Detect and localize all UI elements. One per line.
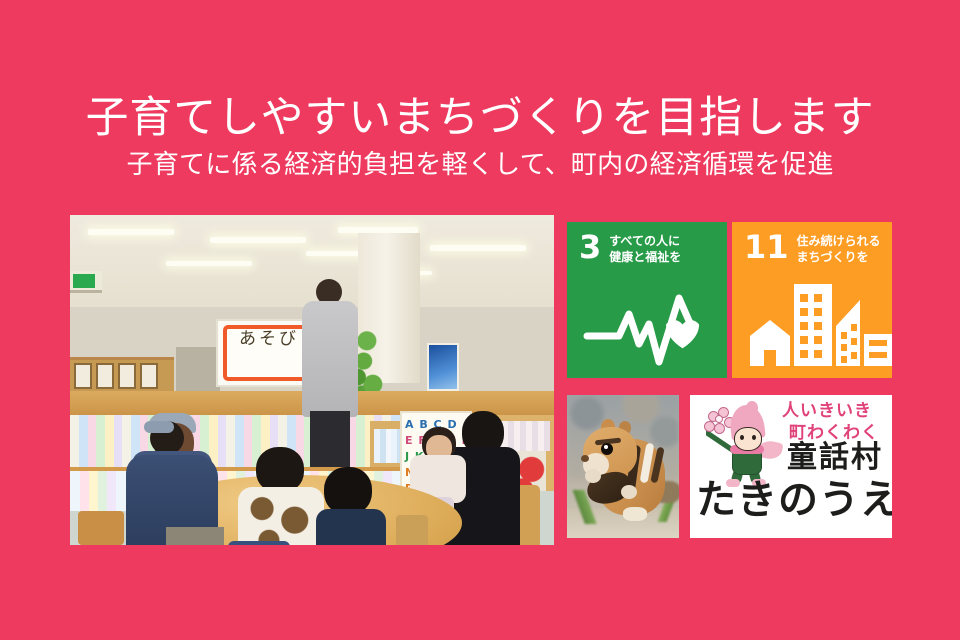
child-body — [238, 487, 324, 545]
sdg-11-label-line2: まちづくりを — [797, 250, 869, 264]
blue-poster — [427, 343, 459, 391]
child-pants — [228, 541, 290, 545]
picture-frame — [74, 363, 92, 389]
sdg-tile-11: 11 住み続けられる まちづくりを — [732, 222, 892, 378]
ceiling-light — [430, 245, 526, 251]
city-buildings-icon — [732, 278, 892, 370]
mascot-illustration — [700, 401, 776, 479]
sdg-3-number: 3 — [579, 232, 601, 262]
chipmunk-paw — [585, 469, 601, 483]
child-head — [324, 467, 372, 515]
adult-cap-brim — [144, 421, 174, 433]
chipmunk-photo — [567, 395, 679, 538]
picture-frame — [118, 363, 136, 389]
logo-town-name: たきのうえ — [696, 475, 888, 525]
seated-adult-legs — [166, 527, 224, 545]
headline-block: 子育てしやすいまちづくりを目指します 子育てに係る経済的負担を軽くして、町内の経… — [0, 92, 960, 182]
chair — [78, 511, 124, 545]
sdg-tile-3: 3 すべての人に 健康と福祉を — [567, 222, 727, 378]
picture-frame — [140, 363, 158, 389]
sdg-11-header: 11 住み続けられる まちづくりを — [744, 232, 881, 265]
banner-root: 子育てしやすいまちづくりを目指します 子育てに係る経済的負担を軽くして、町内の経… — [0, 0, 960, 640]
flower-petal — [704, 421, 715, 432]
logo-tagline-line1: 人いきいき — [766, 401, 888, 422]
chair — [396, 515, 428, 545]
flower-center — [715, 415, 723, 423]
chipmunk-eye-highlight — [604, 445, 608, 449]
service-counter — [176, 347, 220, 391]
chipmunk-nose — [581, 455, 589, 462]
sdg-3-label: すべての人に 健康と福祉を — [609, 233, 681, 265]
flower-petal — [714, 423, 725, 434]
sdg-3-label-line2: 健康と福祉を — [609, 250, 681, 264]
ceiling-light — [88, 229, 174, 235]
chipmunk-foot — [623, 507, 647, 521]
sdg-11-number: 11 — [744, 232, 789, 262]
ceiling-light — [166, 261, 252, 266]
picture-frame — [96, 363, 114, 389]
town-logo: 人いきいき 町わくわく 童話村 たきのうえ — [690, 395, 892, 538]
mascot-eye — [752, 435, 756, 440]
heart-pulse-icon — [567, 278, 727, 370]
logo-village-text: 童話村 — [782, 441, 888, 475]
page-title: 子育てしやすいまちづくりを目指します — [0, 92, 960, 144]
sdg-3-label-line1: すべての人に — [609, 234, 680, 248]
standing-adult-body — [302, 301, 358, 417]
sdg-11-label: 住み続けられる まちづくりを — [797, 233, 881, 265]
sdg-3-header: 3 すべての人に 健康と福祉を — [579, 232, 681, 265]
ceiling-light — [210, 237, 306, 243]
library-photo: あそび A B C D E F G H I J K L M N O P Q R … — [70, 215, 554, 545]
mascot-face — [734, 427, 762, 451]
mascot-eye — [740, 435, 744, 440]
sdg-11-label-line1: 住み続けられる — [797, 234, 881, 248]
page-subtitle: 子育てに係る経済的負担を軽くして、町内の経済循環を促進 — [0, 148, 960, 182]
exit-sign-icon — [73, 274, 95, 288]
child-body — [316, 509, 386, 545]
chipmunk-paw — [621, 485, 637, 499]
